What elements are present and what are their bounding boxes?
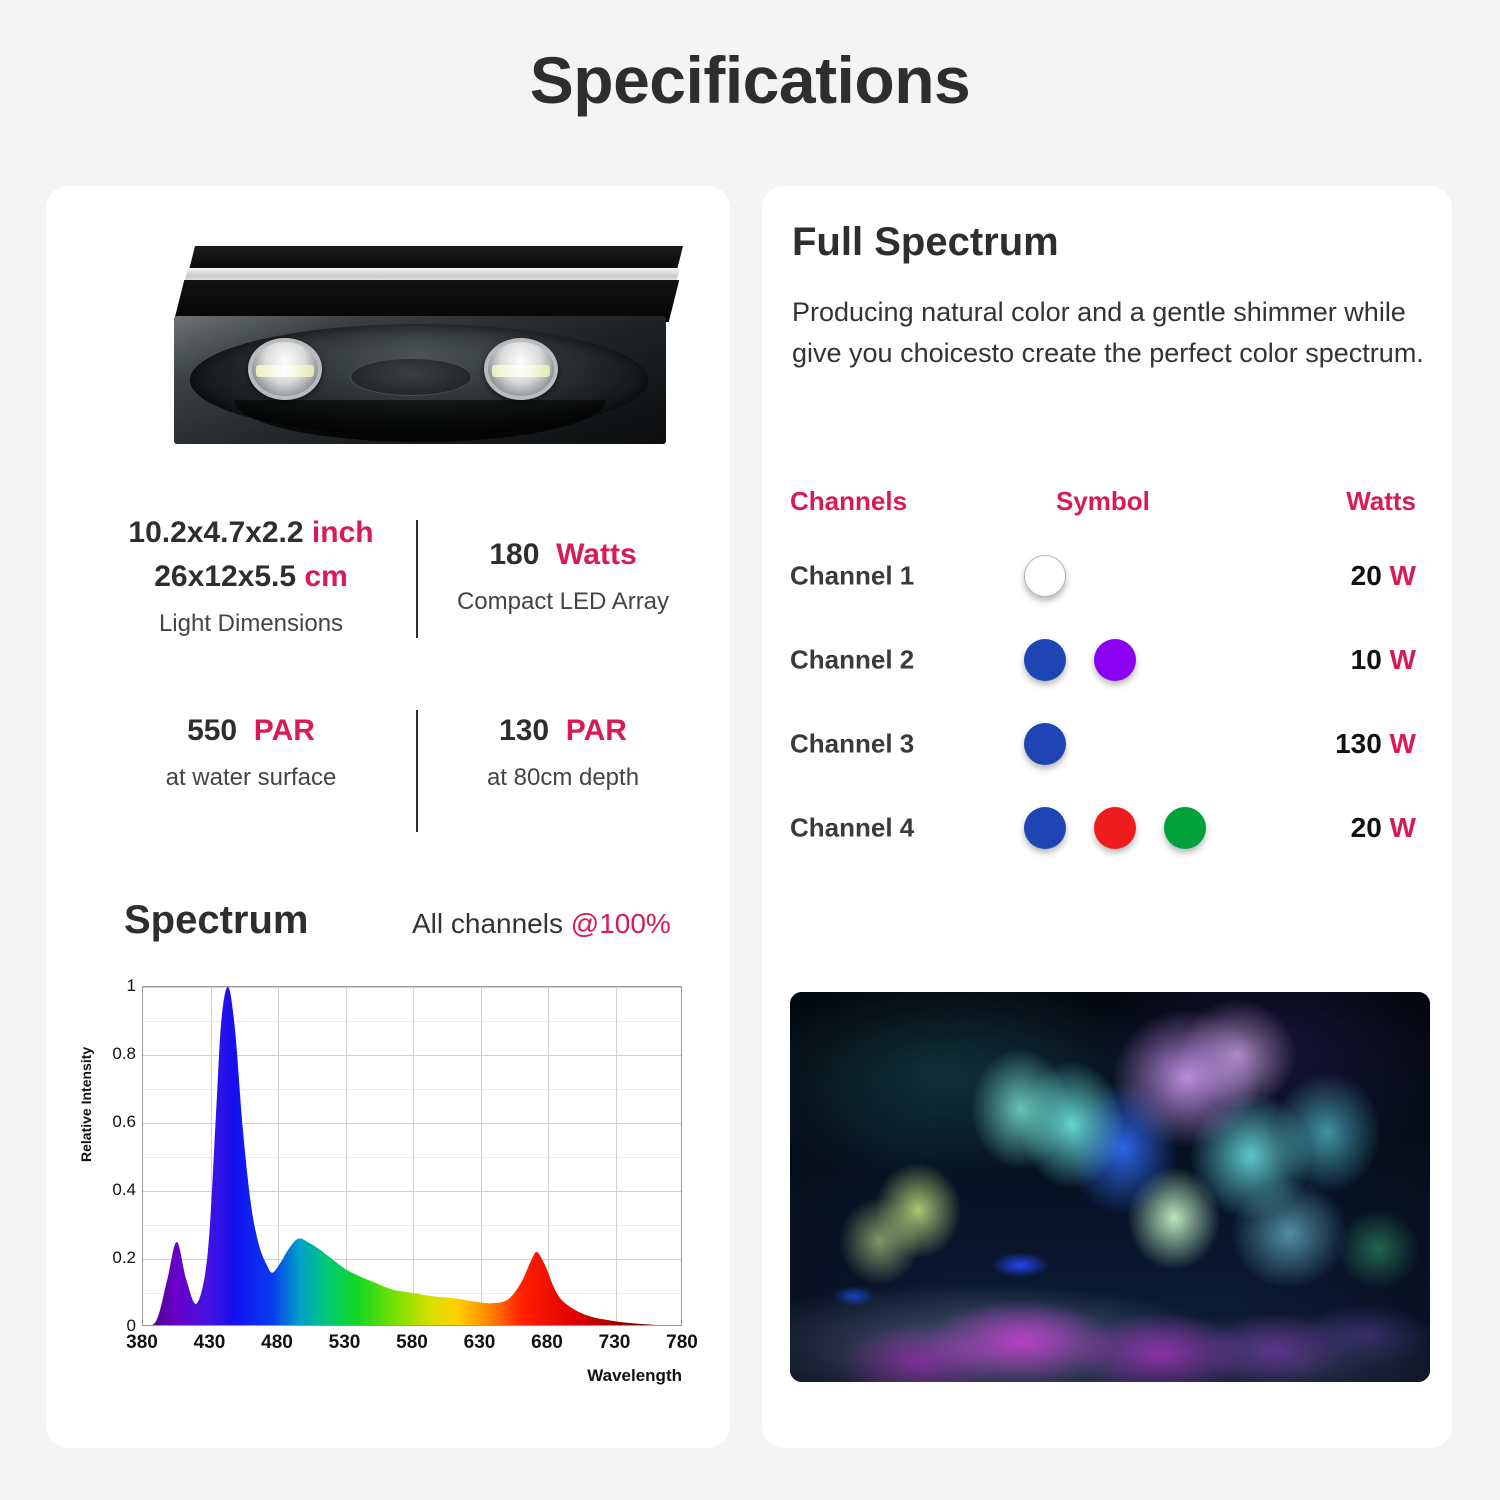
header-symbol: Symbol [1056,486,1150,517]
product-specs-card: 10.2x4.7x2.2 inch 26x12x5.5 cm Light Dim… [46,186,730,1448]
x-tick-label: 680 [512,1332,582,1354]
brand-badge [350,358,472,396]
channel-watts-unit: W [1382,644,1416,675]
channel-watts-unit: W [1382,560,1416,591]
channel-watts-value: 130 [1335,728,1382,759]
chart-x-ticks: 380430480530580630680730780 [142,1332,682,1362]
channel-name: Channel 4 [790,813,914,844]
channel-symbols [1024,639,1136,681]
blue-dot-icon [1024,723,1066,765]
spectrum-curve [143,987,682,1326]
fixture-body [174,316,666,444]
channel-watts-value: 10 [1351,644,1382,675]
x-tick-label: 630 [445,1332,515,1354]
spec-par-surface: 550 PAR at water surface [86,714,416,792]
spec-watt-unit: Watts [556,538,637,571]
channel-watts: 130 W [1335,728,1416,760]
green-dot-icon [1164,807,1206,849]
spec-grid: 10.2x4.7x2.2 inch 26x12x5.5 cm Light Dim… [76,486,704,816]
spec-dim-value-inch: 10.2x4.7x2.2 [128,516,303,549]
x-tick-label: 480 [242,1332,312,1354]
fixture-top-back [189,246,683,270]
spec-watt-caption: Compact LED Array [418,588,708,616]
spec-par2-value: 130 [499,714,549,747]
channel-symbols [1024,723,1066,765]
full-spectrum-description: Producing natural color and a gentle shi… [792,292,1432,374]
x-tick-label: 580 [377,1332,447,1354]
spectrum-subtitle-percent: @100% [571,908,671,939]
chart-plot-area [142,986,682,1326]
spec-dim-line1: 10.2x4.7x2.2 inch [86,516,416,550]
page-title: Specifications [0,42,1500,118]
spectrum-subtitle: All channels @100% [412,908,671,940]
spec-led-array: 180 Watts Compact LED Array [418,538,708,616]
channel-watts: 10 W [1351,644,1416,676]
spec-par2-line: 130 PAR [418,714,708,748]
channel-name: Channel 1 [790,561,914,592]
spectrum-chart: Relative Intensity 00.20.40.60.81 [82,986,702,1406]
spectrum-header: Spectrum All channels @100% [82,898,702,954]
fixture-inner-shadow [234,400,606,442]
chart-y-ticks: 00.20.40.60.81 [82,986,136,1326]
spec-divider-top [416,520,418,638]
spec-par2-unit: PAR [566,714,627,747]
channels-table: Channels Symbol Watts Channel 120 WChann… [784,486,1432,870]
spec-dim-unit-cm: cm [304,560,347,593]
spec-dim-unit-inch: inch [312,516,374,549]
blue-dot-icon [1024,807,1066,849]
product-image [66,214,710,464]
table-row: Channel 120 W [784,534,1432,618]
red-dot-icon [1094,807,1136,849]
channel-name: Channel 2 [790,645,914,676]
spec-par1-caption: at water surface [86,764,416,792]
channel-watts: 20 W [1351,560,1416,592]
spec-par1-unit: PAR [254,714,315,747]
blue-dot-icon [1024,639,1066,681]
spec-dim-caption: Light Dimensions [86,610,416,638]
x-tick-label: 730 [580,1332,650,1354]
reef-aquarium-photo [790,992,1430,1382]
channel-symbols [1024,807,1206,849]
channel-watts: 20 W [1351,812,1416,844]
reef-vignette [790,992,1430,1382]
table-row: Channel 420 W [784,786,1432,870]
x-tick-label: 530 [310,1332,380,1354]
full-spectrum-card: Full Spectrum Producing natural color an… [762,186,1452,1448]
x-tick-label: 780 [647,1332,717,1354]
channel-watts-unit: W [1382,728,1416,759]
channels-table-body: Channel 120 WChannel 210 WChannel 3130 W… [784,534,1432,870]
channel-watts-value: 20 [1351,560,1382,591]
chart-x-axis-label: Wavelength [442,1366,682,1386]
spec-par1-line: 550 PAR [86,714,416,748]
spec-par1-value: 550 [187,714,237,747]
spec-divider-bottom [416,710,418,832]
y-tick-label: 0.8 [90,1044,136,1064]
spectrum-subtitle-text: All channels [412,908,571,939]
spec-dim-value-cm: 26x12x5.5 [154,560,296,593]
spec-light-dimensions: 10.2x4.7x2.2 inch 26x12x5.5 cm Light Dim… [86,516,416,638]
header-channels: Channels [790,486,907,517]
channel-name: Channel 3 [790,729,914,760]
led-lens-right [484,338,558,400]
header-watts: Watts [1346,486,1416,517]
x-tick-label: 430 [175,1332,245,1354]
spec-par-depth: 130 PAR at 80cm depth [418,714,708,792]
y-tick-label: 0.4 [90,1180,136,1200]
table-row: Channel 3130 W [784,702,1432,786]
spec-par2-caption: at 80cm depth [418,764,708,792]
y-tick-label: 1 [90,976,136,996]
channels-table-header: Channels Symbol Watts [784,486,1432,534]
spec-dim-line2: 26x12x5.5 cm [86,560,416,594]
spec-watt-line: 180 Watts [418,538,708,572]
led-fixture-illustration [174,246,694,446]
table-row: Channel 210 W [784,618,1432,702]
full-spectrum-title: Full Spectrum [792,220,1059,265]
channel-watts-value: 20 [1351,812,1382,843]
x-tick-label: 380 [107,1332,177,1354]
channel-symbols [1024,555,1066,597]
y-tick-label: 0.2 [90,1248,136,1268]
led-lens-left [248,338,322,400]
specifications-page: Specifications 10.2x4.7x2.2 [0,0,1500,1500]
spec-watt-value: 180 [489,538,539,571]
white-dot-icon [1024,555,1066,597]
channel-watts-unit: W [1382,812,1416,843]
spectrum-title: Spectrum [124,898,309,943]
purple-dot-icon [1094,639,1136,681]
y-tick-label: 0.6 [90,1112,136,1132]
